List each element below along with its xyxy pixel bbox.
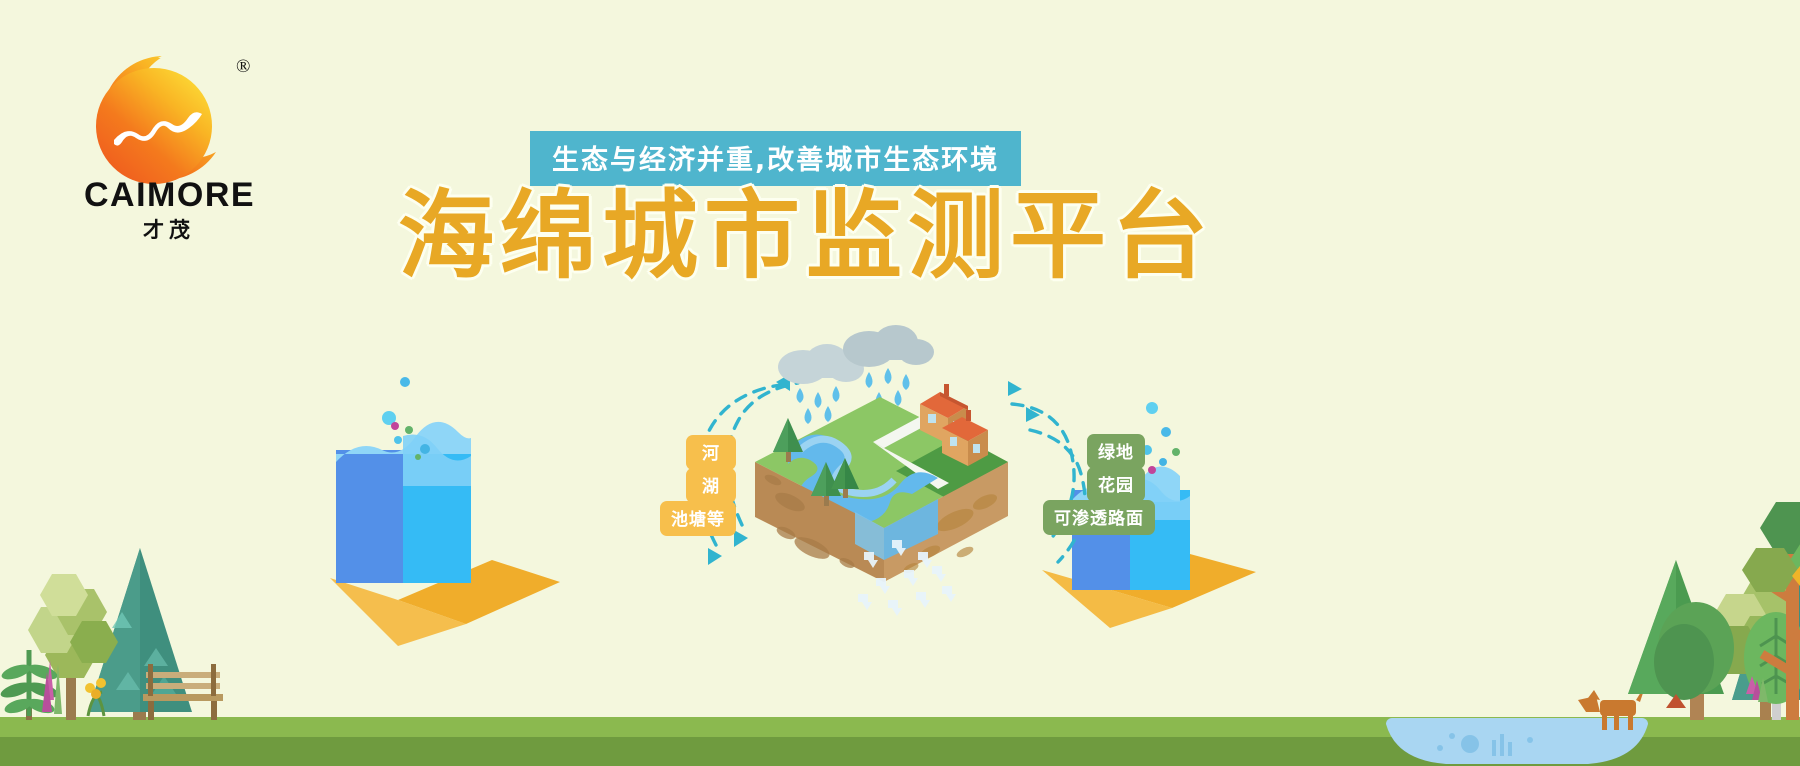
diagram-label-pond: 池塘等 [660,501,736,536]
hero-banner: ® CAIMORE 才茂 生态与经济并重,改善城市生态环境 海绵城市监测平台 河… [0,0,1800,766]
diagram-label-lake: 湖 [686,468,736,503]
diagram-label-permeable-pavement: 可渗透路面 [1043,500,1155,535]
brand-name-cn: 才茂 [84,214,254,244]
brand-logo: ® CAIMORE 才茂 [86,48,276,248]
diagram-label-garden: 花园 [1087,467,1145,502]
page-title: 海绵城市监测平台 [398,181,1214,291]
banner-subtitle: 生态与经济并重,改善城市生态环境 [530,131,1021,186]
crescent-wave-logo-icon [86,48,246,188]
diagram-label-river: 河 [686,435,736,470]
diagram-label-greenland: 绿地 [1087,434,1145,469]
registered-trademark-icon: ® [236,56,250,78]
brand-name: CAIMORE [84,176,254,215]
